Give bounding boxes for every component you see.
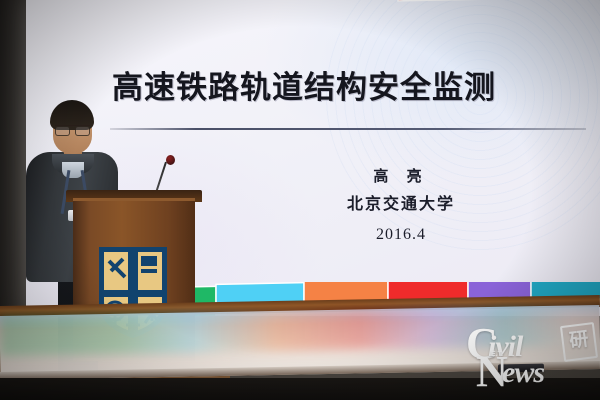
slide-title: 高速铁路轨道结构安全监测 xyxy=(112,58,582,118)
eyeglasses-icon xyxy=(55,125,90,134)
microphone-icon xyxy=(166,155,175,165)
presenter-name: 高 亮 xyxy=(306,164,496,190)
under-stage-shadow xyxy=(0,378,600,400)
laptop-on-table xyxy=(498,364,544,373)
presenter-organization: 北京交通大学 xyxy=(306,190,496,220)
slide-subtitle-block: 高 亮 北京交通大学 2016.4 xyxy=(306,164,496,250)
presentation-date: 2016.4 xyxy=(306,220,496,250)
top-blocks-svg xyxy=(26,0,600,16)
slide-divider-rule xyxy=(110,128,586,130)
slide-top-color-strip xyxy=(26,0,600,16)
presentation-photo: 高速铁路轨道结构安全监测 高 亮 北京交通大学 2016.4 xyxy=(0,0,600,400)
